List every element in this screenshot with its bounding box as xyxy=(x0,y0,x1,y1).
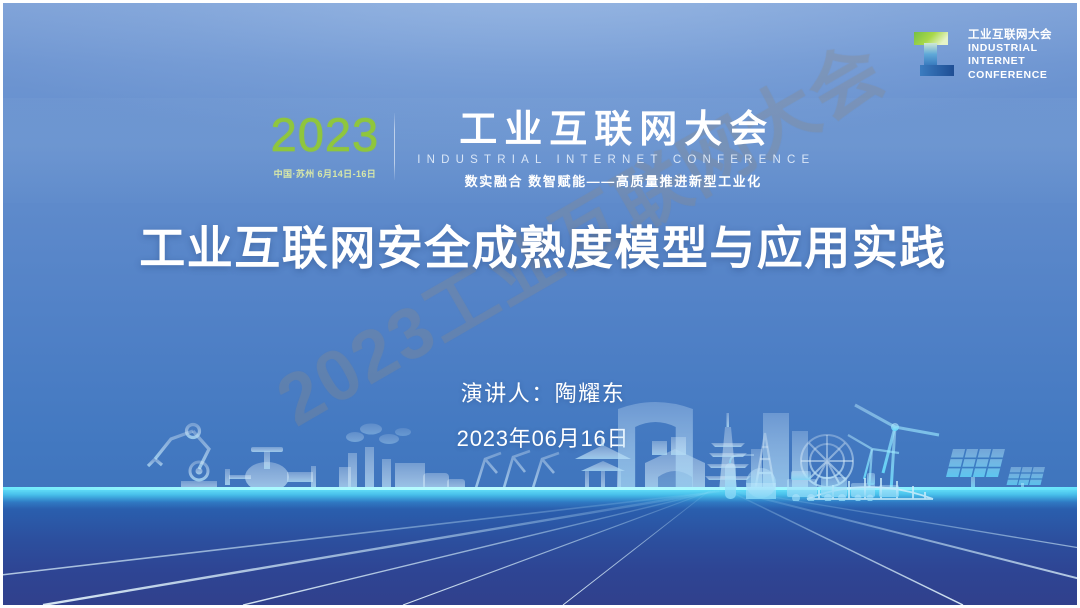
conference-lockup: 2023 中国·苏州 6月14日-16日 工业互联网大会 INDUSTRIAL … xyxy=(3,111,1080,190)
conference-year: 2023 xyxy=(271,111,380,158)
industrial-cluster-layer xyxy=(3,443,1080,501)
conference-slogan: 数实融合 数智赋能——高质量推进新型工业化 xyxy=(411,171,815,190)
conference-location-date: 中国·苏州 6月14日-16日 xyxy=(271,167,380,180)
page-title: 工业互联网安全成熟度模型与应用实践 xyxy=(3,212,1080,278)
lockup-year-group: 2023 中国·苏州 6月14日-16日 xyxy=(271,111,395,190)
perspective-grid xyxy=(3,487,1077,605)
presentation-slide: 2023工业互联网大会 xyxy=(0,0,1080,608)
conference-name-cn: 工业互联网大会 xyxy=(411,111,815,151)
corner-logo-line-internet: INTERNET xyxy=(968,55,1052,68)
corner-logo-title-cn: 工业互联网大会 xyxy=(968,29,1052,41)
corner-logo-line-conference: CONFERENCE xyxy=(968,69,1052,82)
corner-conference-logo: 工业互联网大会 INDUSTRIAL INTERNET CONFERENCE xyxy=(911,25,1052,82)
lockup-name-group: 工业互联网大会 INDUSTRIAL INTERNET CONFERENCE 数… xyxy=(395,111,815,190)
freight-train-icon xyxy=(787,471,899,501)
ground-plane xyxy=(3,487,1077,605)
corner-logo-line-industrial: INDUSTRIAL xyxy=(968,42,1052,55)
storage-tank-icon xyxy=(725,455,776,499)
conference-name-en: INDUSTRIAL INTERNET CONFERENCE xyxy=(411,154,815,166)
corner-logo-wordmark: 工业互联网大会 INDUSTRIAL INTERNET CONFERENCE xyxy=(968,25,1052,82)
conference-t-mark-icon xyxy=(911,29,959,79)
